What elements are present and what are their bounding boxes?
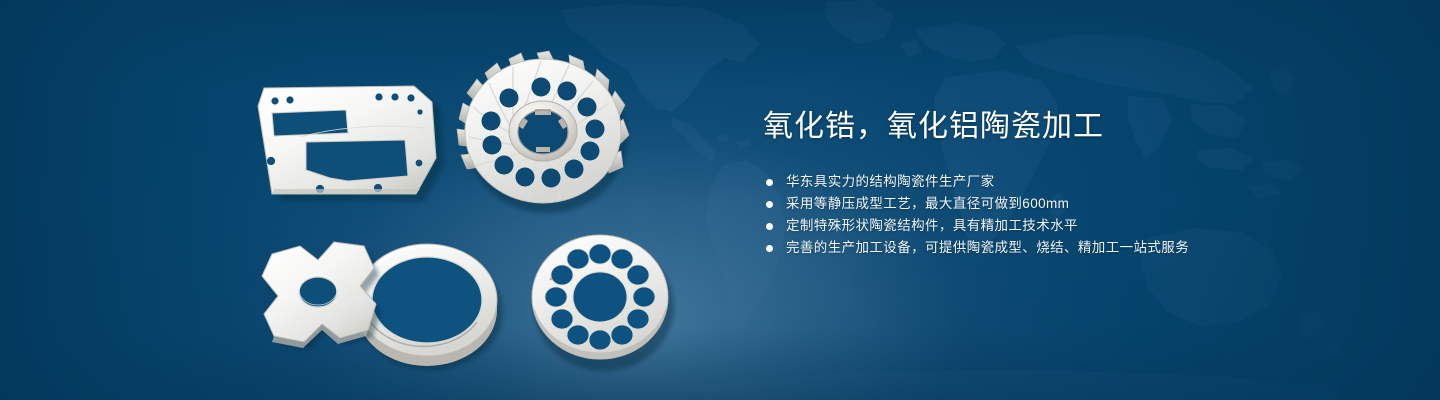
bullet-dot-icon — [766, 201, 773, 208]
product-image-group — [0, 0, 720, 400]
feature-text: 华东具实力的结构陶瓷件生产厂家 — [786, 171, 995, 193]
list-item: 采用等静压成型工艺，最大直径可做到600mm — [763, 193, 1383, 215]
feature-text: 采用等静压成型工艺，最大直径可做到600mm — [786, 193, 1069, 215]
bullet-dot-icon — [766, 245, 773, 252]
list-item: 定制特殊形状陶瓷结构件，具有精加工技术水平 — [763, 215, 1383, 237]
ceramic-machined-plate — [258, 86, 444, 201]
promo-banner: 氧化锆，氧化铝陶瓷加工 华东具实力的结构陶瓷件生产厂家 采用等静压成型工艺，最大… — [0, 0, 1440, 400]
list-item: 完善的生产加工设备，可提供陶瓷成型、烧结、精加工一站式服务 — [763, 237, 1383, 259]
bullet-dot-icon — [766, 223, 773, 230]
ceramic-cross-plate — [262, 242, 381, 349]
ceramic-perforated-disc — [532, 235, 674, 371]
feature-text: 定制特殊形状陶瓷结构件，具有精加工技术水平 — [786, 215, 1078, 237]
feature-text: 完善的生产加工设备，可提供陶瓷成型、烧结、精加工一站式服务 — [786, 237, 1189, 259]
ceramic-ring — [357, 244, 503, 370]
feature-list: 华东具实力的结构陶瓷件生产厂家 采用等静压成型工艺，最大直径可做到600mm 定… — [763, 171, 1383, 259]
banner-text-block: 氧化锆，氧化铝陶瓷加工 华东具实力的结构陶瓷件生产厂家 采用等静压成型工艺，最大… — [763, 108, 1383, 259]
ceramic-impeller-disc — [457, 51, 629, 213]
page-title: 氧化锆，氧化铝陶瓷加工 — [763, 108, 1383, 146]
bullet-dot-icon — [766, 179, 773, 186]
list-item: 华东具实力的结构陶瓷件生产厂家 — [763, 171, 1383, 193]
